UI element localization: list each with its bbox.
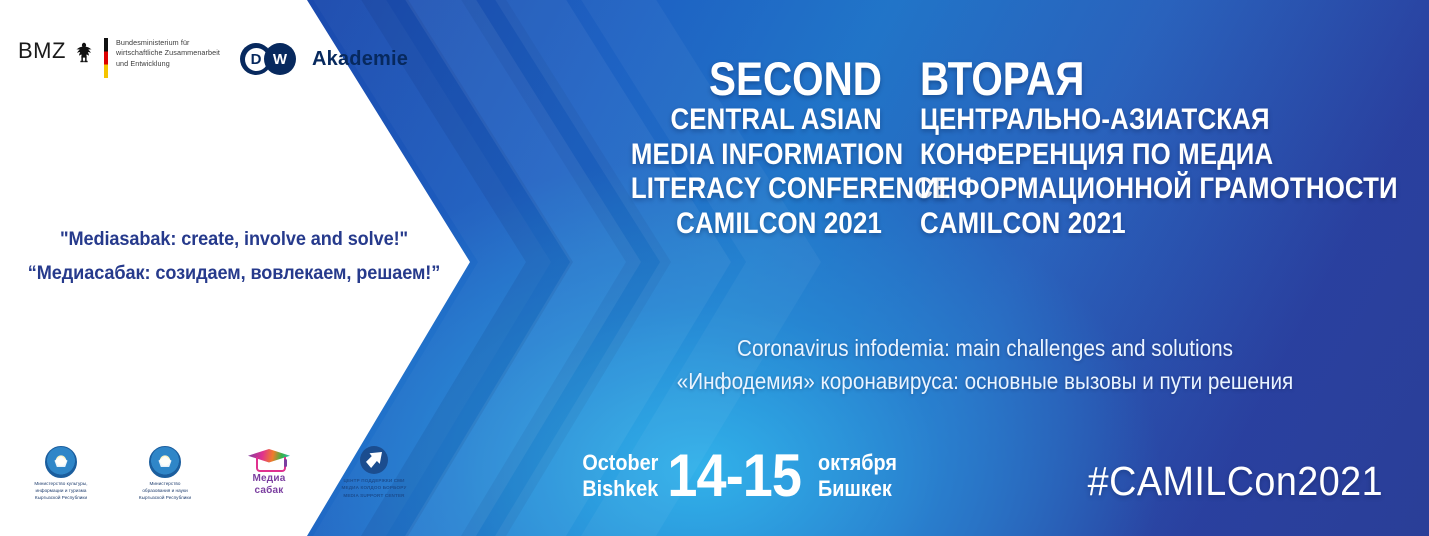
conference-banner: BMZ Bundesministerium für wirtschaftlich… bbox=[0, 0, 1429, 536]
mediasabak-name-line-1: Медиа bbox=[230, 474, 308, 485]
title-en-line-2: MEDIA INFORMATION bbox=[631, 138, 882, 173]
dw-letter-w: W bbox=[264, 43, 296, 75]
partner-logo-media-support-center: ЦЕНТР ПОДДЕРЖКИ СМИ МЕДИА КОЛДОО БОРБОРУ… bbox=[334, 446, 414, 499]
bmz-name-line-3: und Entwicklung bbox=[116, 59, 220, 69]
partner-logo-strip: Министерство культуры, информации и тури… bbox=[22, 446, 414, 502]
dw-mark-icon: D W bbox=[240, 43, 306, 75]
caption-line-3: MEDIA SUPPORT CENTER bbox=[334, 492, 414, 499]
bmz-name-line-1: Bundesministerium für bbox=[116, 38, 220, 48]
title-ru-line-4: CAMILCON 2021 bbox=[920, 207, 1350, 242]
title-ru-line-2: КОНФЕРЕНЦИЯ ПО МЕДИА bbox=[920, 138, 1350, 173]
bmz-ministry-name: Bundesministerium für wirtschaftliche Zu… bbox=[116, 38, 220, 69]
kyrgyz-national-emblem-icon bbox=[149, 446, 181, 478]
conference-theme: Coronavirus infodemia: main challenges a… bbox=[560, 332, 1410, 398]
theme-russian: «Инфодемия» коронавируса: основные вызов… bbox=[603, 365, 1368, 398]
partner-caption: Министерство образования и науки Кыргызс… bbox=[126, 481, 204, 502]
media-support-center-icon bbox=[360, 446, 388, 474]
date-city-en: Bishkek bbox=[582, 476, 658, 502]
date-days: 14-15 bbox=[668, 446, 802, 506]
caption-line-3: Кыргызской Республики bbox=[22, 495, 100, 502]
german-flag-bar-icon bbox=[104, 38, 108, 78]
partner-logo-mediasabak: Медиа сабак bbox=[230, 446, 308, 496]
mediasabak-name-line-2: сабак bbox=[230, 485, 308, 497]
cap-tassel bbox=[284, 459, 288, 467]
date-city-ru: Бишкек bbox=[818, 476, 897, 502]
partner-caption: ЦЕНТР ПОДДЕРЖКИ СМИ МЕДИА КОЛДОО БОРБОРУ… bbox=[334, 477, 414, 499]
dw-akademie-logo: D W Akademie bbox=[240, 43, 408, 75]
event-date-block: October Bishkek 14-15 октября Бишкек bbox=[572, 446, 907, 506]
event-hashtag: #CAMILCon2021 bbox=[1088, 457, 1383, 505]
date-month-en: October bbox=[582, 450, 658, 476]
caption-line-3: Кыргызской Республики bbox=[126, 495, 204, 502]
title-ru-headline: ВТОРАЯ bbox=[920, 54, 1350, 103]
bmz-name-line-2: wirtschaftliche Zusammenarbeit bbox=[116, 48, 220, 58]
partner-caption: Министерство культуры, информации и тури… bbox=[22, 481, 100, 502]
title-en-line-3: LITERACY CONFERENCE bbox=[631, 172, 882, 207]
caption-line-2: образования и науки bbox=[126, 488, 204, 495]
graduation-cap-icon bbox=[248, 446, 290, 472]
caption-line-1: Министерство bbox=[126, 481, 204, 488]
caption-line-2: информации и туризма bbox=[22, 488, 100, 495]
partner-logo-ministry-culture: Министерство культуры, информации и тури… bbox=[22, 446, 100, 502]
theme-english: Coronavirus infodemia: main challenges a… bbox=[603, 332, 1368, 365]
title-russian-column: ВТОРАЯ ЦЕНТРАЛЬНО-АЗИАТСКАЯ КОНФЕРЕНЦИЯ … bbox=[920, 54, 1420, 241]
title-ru-line-3: ИНФОРМАЦИОННОЙ ГРАМОТНОСТИ bbox=[920, 172, 1350, 207]
title-en-line-4: CAMILCON 2021 bbox=[631, 207, 882, 242]
partner-logo-ministry-education: Министерство образования и науки Кыргызс… bbox=[126, 446, 204, 502]
bmz-acronym: BMZ bbox=[18, 40, 66, 62]
german-federal-eagle-icon bbox=[73, 39, 95, 68]
cap-board bbox=[256, 457, 286, 472]
slogan-english: "Mediasabak: create, involve and solve!" bbox=[16, 222, 451, 256]
caption-line-1: Министерство культуры, bbox=[22, 481, 100, 488]
title-en-headline: SECOND bbox=[631, 54, 882, 103]
title-en-line-1: CENTRAL ASIAN bbox=[631, 103, 882, 138]
event-slogan: "Mediasabak: create, involve and solve!"… bbox=[0, 222, 468, 290]
title-english-column: SECOND CENTRAL ASIAN MEDIA INFORMATION L… bbox=[590, 54, 882, 241]
date-month-ru: октября bbox=[818, 450, 897, 476]
bmz-logo: BMZ Bundesministerium für wirtschaftlich… bbox=[18, 38, 220, 78]
kyrgyz-national-emblem-icon bbox=[45, 446, 77, 478]
slogan-russian: “Медиасабак: созидаем, вовлекаем, решаем… bbox=[16, 256, 451, 290]
caption-line-2: МЕДИА КОЛДОО БОРБОРУ bbox=[334, 484, 414, 491]
date-left-labels: October Bishkek bbox=[582, 450, 658, 502]
dw-wordmark: Akademie bbox=[312, 48, 408, 71]
title-ru-line-1: ЦЕНТРАЛЬНО-АЗИАТСКАЯ bbox=[920, 103, 1350, 138]
caption-line-1: ЦЕНТР ПОДДЕРЖКИ СМИ bbox=[334, 477, 414, 484]
date-right-labels: октября Бишкек bbox=[818, 450, 897, 502]
